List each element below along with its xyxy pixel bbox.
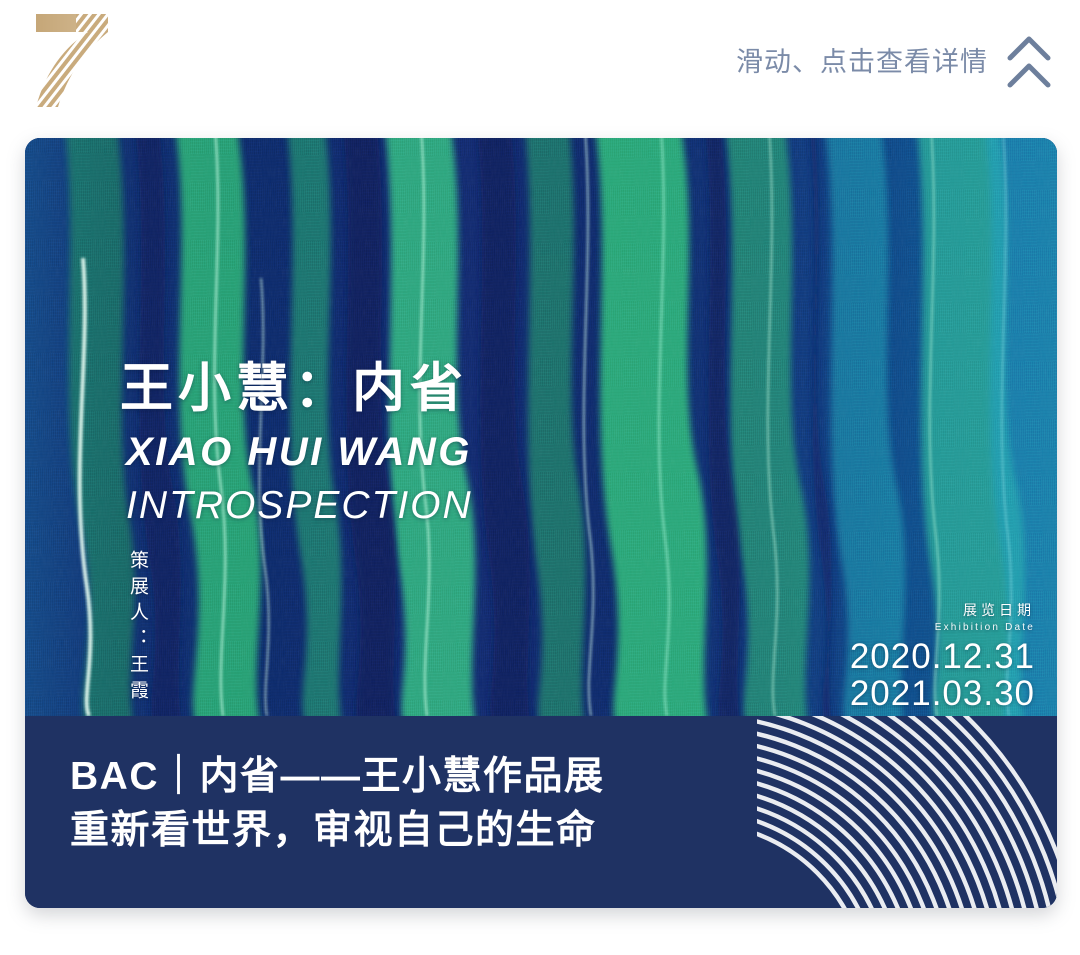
card-caption-banner[interactable]: BAC｜内省——王小慧作品展 重新看世界，审视自己的生命: [25, 716, 1057, 908]
banner-text-block: BAC｜内省——王小慧作品展 重新看世界，审视自己的生命: [70, 754, 605, 853]
poster-title-cn: 王小慧：内省: [120, 362, 468, 415]
concentric-arc-lines-pattern: [757, 716, 1057, 908]
banner-line-2: 重新看世界，审视自己的生命: [70, 808, 605, 853]
striped-seven-logo: [22, 8, 122, 113]
date-label-cn: 展览日期: [716, 600, 1035, 620]
scroll-hint-text: 滑动、点击查看详情: [736, 40, 988, 79]
exhibition-info-block: 展览日期 Exhibition Date 2020.12.31 2021.03.…: [716, 600, 1035, 716]
date-start: 2020.12.31: [716, 638, 1035, 675]
exhibition-card[interactable]: 王小慧：内省 XIAO HUI WANG INTROSPECTION 策展人：王…: [25, 138, 1057, 908]
double-chevron-up-icon[interactable]: [1006, 34, 1052, 90]
date-end: 2021.03.30: [716, 675, 1035, 712]
date-label-en: Exhibition Date: [716, 622, 1035, 633]
poster-title-en-light: INTROSPECTION: [126, 486, 473, 525]
curator-vertical-text: 策展人：王霞: [121, 550, 151, 706]
page-header: 滑动、点击查看详情: [0, 0, 1080, 138]
poster-artwork[interactable]: 王小慧：内省 XIAO HUI WANG INTROSPECTION 策展人：王…: [25, 138, 1057, 716]
poster-title-en-bold: XIAO HUI WANG: [126, 432, 472, 472]
banner-line-1: BAC｜内省——王小慧作品展: [70, 754, 605, 799]
